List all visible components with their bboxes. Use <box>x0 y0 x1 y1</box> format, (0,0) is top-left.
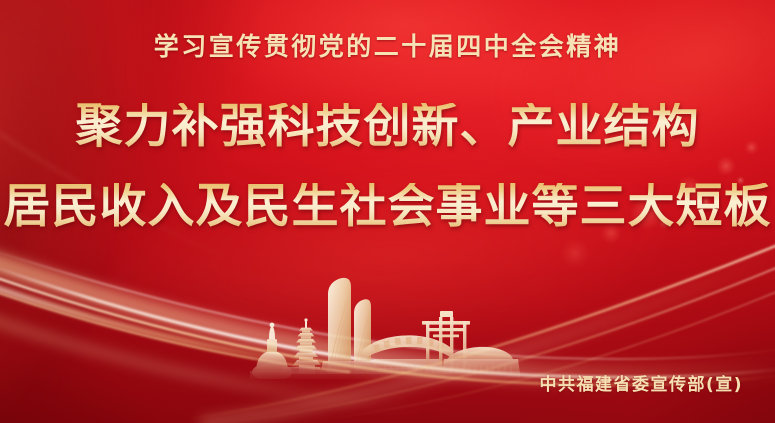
headline-main-line-1: 聚力补强科技创新、产业结构 <box>0 103 775 150</box>
poster-content: 学习宣传贯彻党的二十届四中全会精神 聚力补强科技创新、产业结构 居民收入及民生社… <box>0 0 775 423</box>
footer-credit: 中共福建省委宣传部(宣) <box>539 370 743 395</box>
poster-canvas: 学习宣传贯彻党的二十届四中全会精神 聚力补强科技创新、产业结构 居民收入及民生社… <box>0 0 775 423</box>
headline-top: 学习宣传贯彻党的二十届四中全会精神 <box>0 34 775 59</box>
headline-main-line-2: 居民收入及民生社会事业等三大短板 <box>0 183 775 230</box>
